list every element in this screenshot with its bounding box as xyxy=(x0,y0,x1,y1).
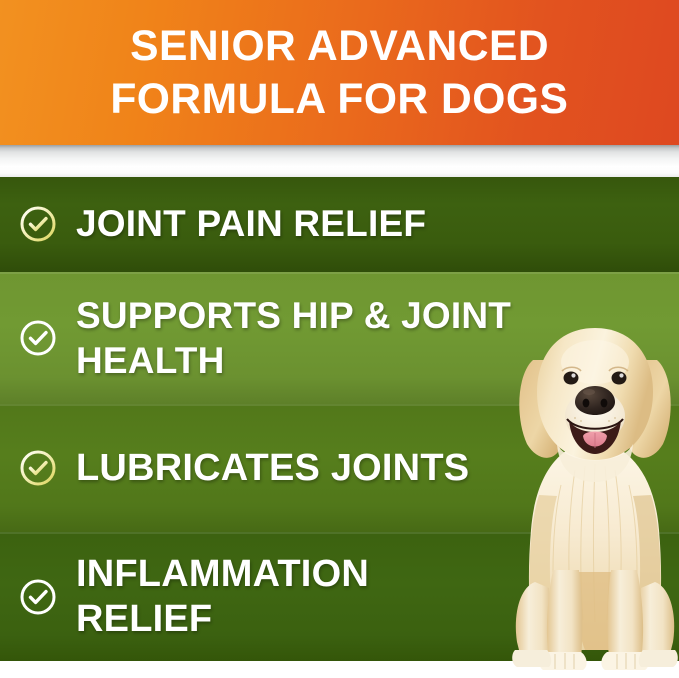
product-feature-banner: SENIOR ADVANCED FORMULA FOR DOGS xyxy=(0,0,679,678)
benefit-label: JOINT PAIN RELIEF xyxy=(76,201,426,246)
benefit-label: INFLAMMATION RELIEF xyxy=(76,552,496,642)
check-circle-icon xyxy=(18,204,58,244)
benefit-row-supports-hip-joint-health: SUPPORTS HIP & JOINT HEALTH xyxy=(0,272,679,404)
header-banner: SENIOR ADVANCED FORMULA FOR DOGS xyxy=(0,0,679,145)
benefit-label: LUBRICATES JOINTS xyxy=(76,446,469,491)
benefit-row-inflammation-relief: INFLAMMATION RELIEF xyxy=(0,532,679,661)
header-title-line-1: SENIOR ADVANCED xyxy=(130,20,549,73)
check-circle-icon xyxy=(18,448,58,488)
benefits-list: JOINT PAIN RELIEF SUPPORTS HIP & JOINT H… xyxy=(0,175,679,661)
header-title-line-2: FORMULA FOR DOGS xyxy=(110,73,568,126)
benefit-label: SUPPORTS HIP & JOINT HEALTH xyxy=(76,293,566,383)
check-circle-icon xyxy=(18,577,58,617)
benefit-row-joint-pain-relief: JOINT PAIN RELIEF xyxy=(0,175,679,272)
bottom-white-strip xyxy=(0,661,679,678)
check-circle-icon xyxy=(18,318,58,358)
benefit-row-lubricates-joints: LUBRICATES JOINTS xyxy=(0,404,679,532)
